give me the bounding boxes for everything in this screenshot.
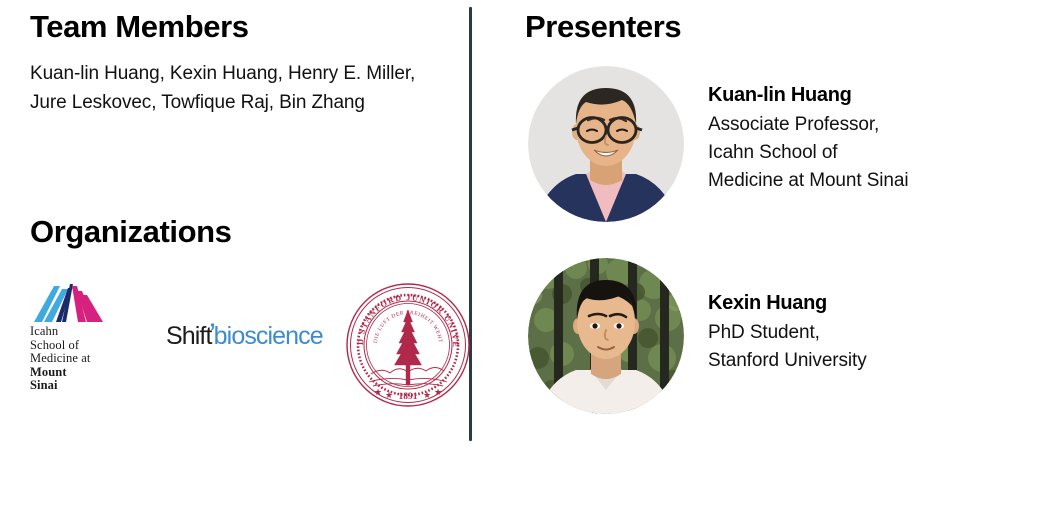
- sinai-line-0: Icahn: [30, 325, 150, 339]
- presenter-affiliation: PhD Student, Stanford University: [708, 319, 1018, 375]
- shift-tick-icon: ’: [210, 319, 216, 344]
- mount-sinai-wordmark: Icahn School of Medicine at Mount Sinai: [30, 325, 150, 393]
- organizations-heading: Organizations: [30, 216, 232, 249]
- svg-text:★: ★: [423, 390, 431, 400]
- avatar-kexin-huang: [528, 258, 684, 414]
- svg-text:★: ★: [434, 387, 442, 397]
- shift-wordmark-dark: Shift: [166, 322, 212, 350]
- organization-logos-row: Icahn School of Medicine at Mount Sinai …: [30, 278, 460, 408]
- team-members-list: Kuan-lin Huang, Kexin Huang, Henry E. Mi…: [30, 60, 430, 117]
- left-column: Team Members Kuan-lin Huang, Kexin Huang…: [30, 0, 450, 516]
- presenter-name: Kexin Huang: [708, 290, 1018, 316]
- avatar-kuan-lin-huang: [528, 66, 684, 222]
- presentation-slide: Team Members Kuan-lin Huang, Kexin Huang…: [0, 0, 1040, 516]
- svg-text:★: ★: [385, 390, 393, 400]
- affiliation-line: Medicine at Mount Sinai: [708, 167, 1018, 195]
- affiliation-line: Icahn School of: [708, 139, 1018, 167]
- presenter-name: Kuan-lin Huang: [708, 82, 1018, 108]
- logo-stanford-seal: LELAND STANFORD JUNIOR UNIVERSITY DIE LU…: [345, 282, 471, 408]
- sinai-bold-line-0: Mount: [30, 366, 150, 380]
- right-column: Presenters: [520, 0, 1040, 516]
- presenter-card: Kexin Huang PhD Student, Stanford Univer…: [520, 252, 1020, 417]
- svg-text:★: ★: [374, 387, 382, 397]
- affiliation-line: Stanford University: [708, 347, 1018, 375]
- presenter-details: Kuan-lin Huang Associate Professor, Icah…: [708, 82, 1018, 195]
- presenter-details: Kexin Huang PhD Student, Stanford Univer…: [708, 290, 1018, 375]
- logo-shift-bioscience: Shift’bioscience: [166, 322, 323, 351]
- affiliation-line: PhD Student,: [708, 319, 1018, 347]
- presenters-heading: Presenters: [525, 11, 681, 44]
- stanford-seal-year: 1891: [399, 392, 418, 402]
- sinai-line-1: School of: [30, 339, 150, 353]
- presenter-card: Kuan-lin Huang Associate Professor, Icah…: [520, 60, 1020, 225]
- affiliation-line: Associate Professor,: [708, 111, 1018, 139]
- team-members-heading: Team Members: [30, 11, 249, 44]
- sinai-bold-line-1: Sinai: [30, 379, 150, 393]
- sinai-line-2: Medicine at: [30, 352, 150, 366]
- shift-wordmark-blue: bioscience: [214, 322, 323, 350]
- logo-icahn-mount-sinai: Icahn School of Medicine at Mount Sinai: [30, 282, 150, 393]
- mount-sinai-chevrons-icon: [32, 282, 104, 322]
- presenter-affiliation: Associate Professor, Icahn School of Med…: [708, 111, 1018, 195]
